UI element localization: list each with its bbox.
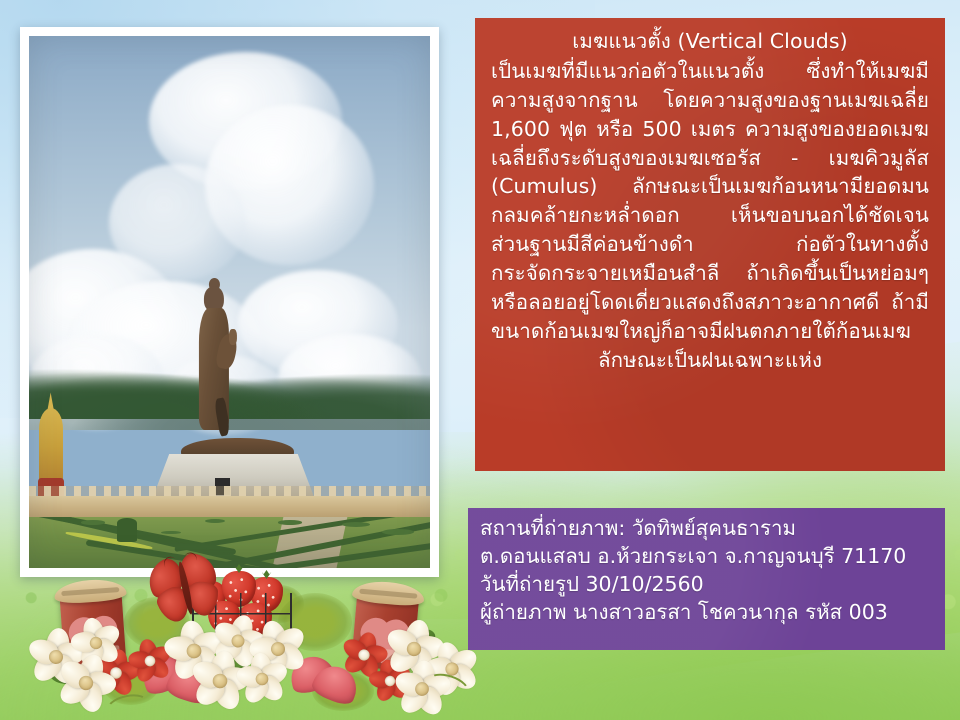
strawberry-stem	[234, 564, 244, 573]
strawberry-stem	[262, 570, 272, 579]
description-body: เป็นเมฆที่มีแนวก่อตัวในแนวตั้ง ซึ่งทำให้…	[491, 57, 929, 375]
description-title: เมฆแนวตั้ง (Vertical Clouds)	[491, 27, 929, 56]
credit-date: วันที่ถ่ายรูป 30/10/2560	[480, 571, 935, 599]
credit-photographer: ผู้ถ่ายภาพ นางสาวอรสา โชควนากุล รหัส 003	[480, 599, 935, 627]
credit-address: ต.ดอนแสลบ อ.ห้วยกระเจา จ.กาญจนบุรี 71170	[480, 543, 935, 571]
photograph	[29, 36, 430, 568]
garden-shrub	[342, 522, 370, 527]
jar-lid	[352, 579, 426, 607]
buddha-statue	[183, 286, 243, 446]
garden-shrub	[382, 529, 414, 535]
statue-hand	[229, 329, 237, 345]
topiary-shrub	[117, 518, 137, 541]
jar-lid	[54, 578, 127, 605]
description-panel: เมฆแนวตั้ง (Vertical Clouds) เป็นเมฆที่ม…	[475, 18, 945, 471]
credit-location: สถานที่ถ่ายภาพ: วัดทิพย์สุคนธาราม	[480, 515, 935, 543]
decorative-cluster	[6, 545, 458, 720]
credit-panel: สถานที่ถ่ายภาพ: วัดทิพย์สุคนธาราม ต.ดอนแ…	[468, 508, 945, 650]
photo-frame	[20, 27, 439, 577]
slide-canvas: เมฆแนวตั้ง (Vertical Clouds) เป็นเมฆที่ม…	[0, 0, 960, 720]
white-flower	[234, 651, 289, 706]
garden-shrub	[161, 531, 181, 535]
garden-shrub	[205, 519, 225, 523]
garden-shrub	[278, 520, 302, 525]
